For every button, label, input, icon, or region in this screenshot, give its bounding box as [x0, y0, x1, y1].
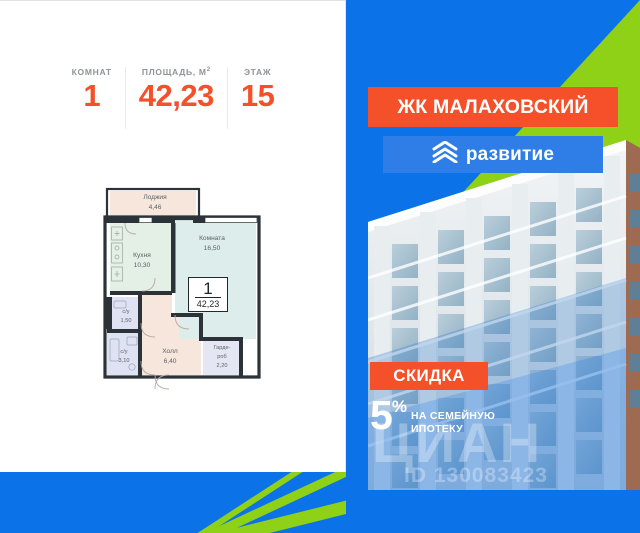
floorplan-drawing: Лоджия 4,46 Кухня 10,30 Комната 16,50 с/… — [97, 187, 269, 399]
discount-subtitle: НА СЕМЕЙНУЮИПОТЕКУ — [411, 410, 495, 435]
discount-label-badge: СКИДКА — [370, 362, 488, 390]
room-label-wc1-area: 1,50 — [121, 318, 132, 324]
floorplan-panel: КОМНАТ 1 ПЛОЩАДЬ, М2 42,23 ЭТАЖ 15 — [0, 0, 346, 472]
spec-rooms-value: 1 — [83, 80, 100, 111]
discount-label: СКИДКА — [393, 366, 464, 386]
listing-card: КОМНАТ 1 ПЛОЩАДЬ, М2 42,23 ЭТАЖ 15 — [0, 0, 640, 533]
room-label-hall-area: 6,40 — [164, 358, 177, 365]
promo-panel: ЖК МАЛАХОВСКИЙ развитие СКИДКА 5 % НА СЕ… — [346, 0, 640, 533]
discount-number: 5 — [370, 396, 392, 434]
room-label-wc2-name: с/у — [120, 349, 127, 355]
brand-primary-badge: ЖК МАЛАХОВСКИЙ — [368, 87, 618, 127]
room-label-room-area: 16,50 — [204, 245, 221, 252]
spec-floor-label: ЭТАЖ — [244, 67, 271, 77]
room-label-kitchen-area: 10,30 — [134, 262, 151, 269]
spec-rooms-label: КОМНАТ — [72, 67, 112, 77]
discount-block: СКИДКА 5 % НА СЕМЕЙНУЮИПОТЕКУ — [370, 362, 550, 458]
room-label-loggia-area: 4,46 — [149, 204, 162, 211]
spec-area-superscript: 2 — [207, 67, 211, 73]
apartment-specs: КОМНАТ 1 ПЛОЩАДЬ, М2 42,23 ЭТАЖ 15 — [0, 67, 346, 129]
spec-area-label: ПЛОЩАДЬ, М2 — [142, 67, 211, 77]
badge-divider — [195, 297, 221, 298]
chevrons-up-icon — [432, 141, 458, 168]
spec-area: ПЛОЩАДЬ, М2 42,23 — [125, 67, 227, 129]
rooms-area-badge: 1 42,23 — [188, 277, 228, 312]
spec-floor: ЭТАЖ 15 — [227, 67, 287, 129]
room-label-wardrobe-area: 2,20 — [217, 363, 228, 369]
room-label-loggia-name: Лоджия — [143, 194, 167, 201]
discount-figure: 5 % НА СЕМЕЙНУЮИПОТЕКУ — [370, 396, 550, 435]
room-label-wc2-area: 3,10 — [119, 358, 130, 364]
room-label-room-name: Комната — [199, 235, 225, 242]
badge-rooms-value: 1 — [203, 281, 212, 296]
room-label-wc1-name: с/у — [122, 309, 129, 315]
room-label-wardrobe-name1: Гарде- — [213, 345, 230, 351]
badge-area-value: 42,23 — [197, 299, 220, 309]
spec-area-value: 42,23 — [139, 80, 214, 111]
spec-floor-value: 15 — [241, 80, 274, 111]
brand-secondary-label: развитие — [466, 144, 554, 166]
room-label-wardrobe-name2: роб — [217, 354, 226, 360]
spec-rooms: КОМНАТ 1 — [59, 67, 125, 129]
brand-primary-label: ЖК МАЛАХОВСКИЙ — [397, 96, 588, 119]
room-label-kitchen-name: Кухня — [133, 252, 151, 259]
room-label-hall-name: Холл — [162, 348, 178, 355]
brand-secondary-badge: развитие — [383, 136, 603, 173]
discount-percent-sign: % — [392, 398, 407, 415]
